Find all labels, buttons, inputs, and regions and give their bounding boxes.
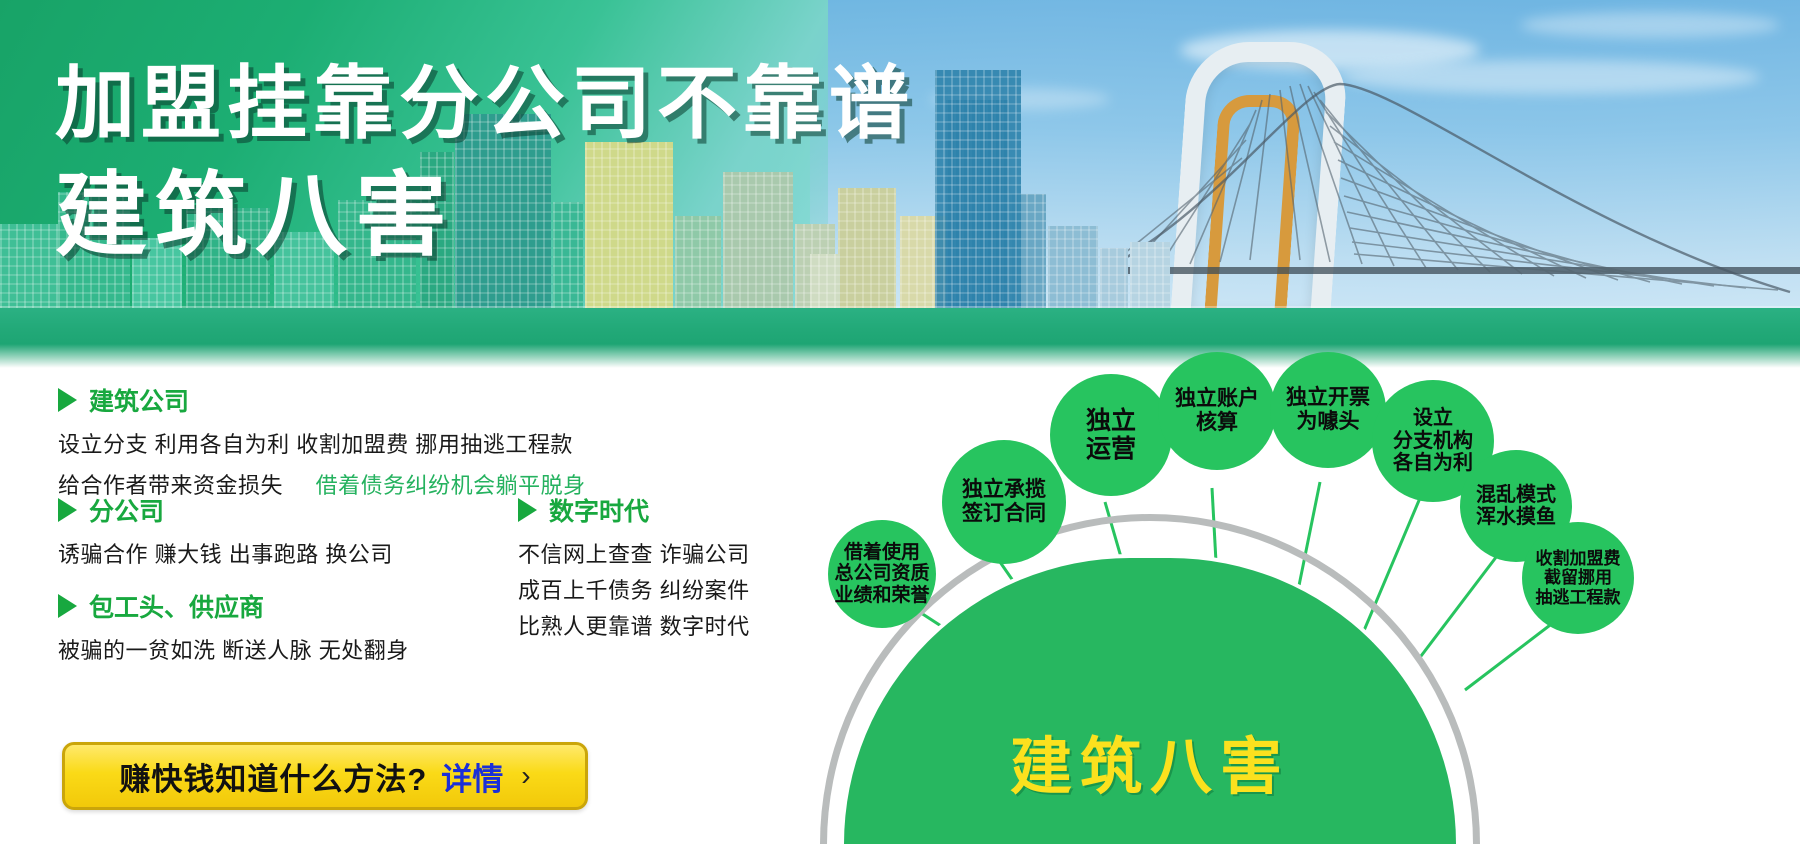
bubble-5[interactable]: 独立开票 为噱头 xyxy=(1270,352,1386,468)
bubble-label: 独立开票 为噱头 xyxy=(1286,386,1370,433)
building xyxy=(838,188,896,312)
section-digital-era: 数字时代 不信网上查查 诈骗公司 成百上千债务 纠纷案件 比熟人更靠谱 数字时代 xyxy=(518,492,750,641)
section-text-line: 不信网上查查 诈骗公司 xyxy=(518,537,750,569)
building-tower xyxy=(935,70,1021,312)
bubble-2[interactable]: 独立承揽 签订合同 xyxy=(942,440,1066,564)
bubble-label: 收割加盟费 截留挪用 抽逃工程款 xyxy=(1536,549,1621,606)
bridge-cables xyxy=(1100,60,1800,320)
section-heading: 分公司 xyxy=(58,492,393,528)
building xyxy=(0,224,58,312)
section-text-black: 被骗的一贫如洗 断送人脉 无处翻身 xyxy=(58,638,409,663)
hero-banner: 加盟挂靠分公司不靠谱 建筑八害 xyxy=(0,0,1800,370)
section-heading-label: 包工头、供应商 xyxy=(89,588,264,624)
triangle-bullet-icon xyxy=(518,498,537,522)
section-heading-label: 建筑公司 xyxy=(89,382,189,418)
dome-diagram: 建筑八害 借着使用 总公司资质 业绩和荣誉 独立承揽 签订合同 独立 运营 独立… xyxy=(800,330,1800,844)
section-heading-label: 分公司 xyxy=(89,492,164,528)
bubble-label: 混乱模式 浑水摸鱼 xyxy=(1476,484,1556,529)
triangle-bullet-icon xyxy=(58,498,77,522)
section-heading-label: 数字时代 xyxy=(549,492,649,528)
building xyxy=(553,202,583,312)
bubble-label: 独立承揽 签订合同 xyxy=(962,478,1046,525)
building xyxy=(585,142,673,312)
bubble-4[interactable]: 独立账户 核算 xyxy=(1158,352,1276,470)
dome-center-label: 建筑八害 xyxy=(844,716,1456,806)
building xyxy=(1130,242,1170,312)
section-heading: 包工头、供应商 xyxy=(58,588,409,624)
cta-button[interactable]: 赚快钱知道什么方法? 详情 › xyxy=(62,742,588,810)
section-text-black: 设立分支 利用各自为利 收割加盟费 挪用抽逃工程款 xyxy=(58,432,573,457)
bubble-label: 借着使用 总公司资质 业绩和荣誉 xyxy=(834,542,929,606)
bubble-label: 独立 运营 xyxy=(1086,407,1136,463)
building xyxy=(675,216,721,312)
building xyxy=(1100,248,1128,312)
triangle-bullet-icon xyxy=(58,388,77,412)
section-text-black: 成百上千债务 纠纷案件 xyxy=(518,578,750,603)
cta-detail-link[interactable]: 详情 xyxy=(441,754,503,799)
hero-title-line1: 加盟挂靠分公司不靠谱 xyxy=(55,62,915,146)
chevron-right-icon: › xyxy=(521,760,530,792)
section-branch-company: 分公司 诱骗合作 赚大钱 出事跑路 换公司 xyxy=(58,492,393,569)
poster-root: 加盟挂靠分公司不靠谱 建筑八害 建筑公司 设立分支 利用各自为利 收割加盟费 挪… xyxy=(0,0,1800,844)
bubble-label: 设立 分支机构 各自为利 xyxy=(1393,407,1473,474)
section-heading: 数字时代 xyxy=(518,492,750,528)
section-text-line: 比熟人更靠谱 数字时代 xyxy=(518,609,750,641)
building xyxy=(723,172,793,312)
section-contractor-supplier: 包工头、供应商 被骗的一贫如洗 断送人脉 无处翻身 xyxy=(58,588,409,665)
section-text-black: 不信网上查查 诈骗公司 xyxy=(518,542,750,567)
triangle-bullet-icon xyxy=(58,594,77,618)
section-text-line: 成百上千债务 纠纷案件 xyxy=(518,573,750,605)
section-construction-company: 建筑公司 设立分支 利用各自为利 收割加盟费 挪用抽逃工程款 给合作者带来资金损… xyxy=(58,382,586,500)
hero-title-line2: 建筑八害 xyxy=(55,168,455,265)
building xyxy=(810,254,840,312)
section-heading: 建筑公司 xyxy=(58,382,586,418)
section-text-black: 诱骗合作 赚大钱 出事跑路 换公司 xyxy=(58,542,393,567)
section-text-line: 诱骗合作 赚大钱 出事跑路 换公司 xyxy=(58,537,393,569)
section-text-line: 设立分支 利用各自为利 收割加盟费 挪用抽逃工程款 xyxy=(58,427,586,459)
bubble-label: 独立账户 核算 xyxy=(1175,387,1259,434)
cloud-icon xyxy=(1520,12,1780,38)
section-text-black: 比熟人更靠谱 数字时代 xyxy=(518,614,750,639)
bubble-8[interactable]: 收割加盟费 截留挪用 抽逃工程款 xyxy=(1522,522,1634,634)
cta-question-label: 赚快钱知道什么方法? xyxy=(119,754,427,799)
section-text-line: 被骗的一贫如洗 断送人脉 无处翻身 xyxy=(58,633,409,665)
bubble-3[interactable]: 独立 运营 xyxy=(1050,374,1172,496)
bubble-1[interactable]: 借着使用 总公司资质 业绩和荣誉 xyxy=(828,520,936,628)
building xyxy=(1048,226,1098,312)
